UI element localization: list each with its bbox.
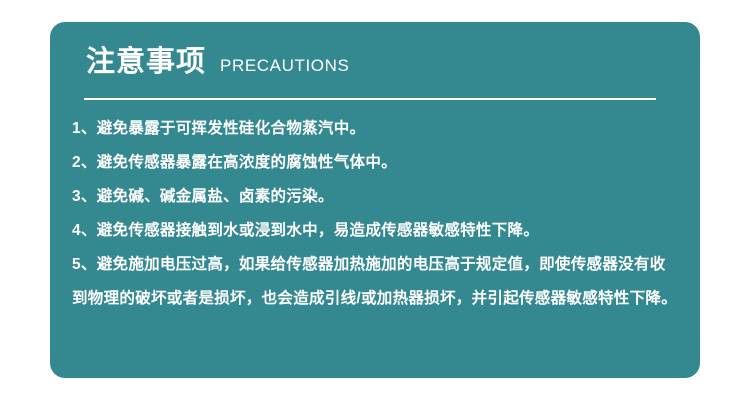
page-title: 注意事项 — [86, 48, 206, 77]
list-item: 3、避免碱、碱金属盐、卤素的污染。 — [72, 180, 686, 214]
precautions-panel: 注意事项 PRECAUTIONS 1、避免暴露于可挥发性硅化合物蒸汽中。 2、避… — [50, 22, 700, 378]
page-subtitle: PRECAUTIONS — [220, 57, 349, 74]
list-item: 1、避免暴露于可挥发性硅化合物蒸汽中。 — [72, 112, 686, 146]
header-divider — [84, 98, 656, 100]
list-item: 5、避免施加电压过高，如果给传感器加热施加的电压高于规定值，即使传感器没有收到物… — [72, 248, 686, 316]
precautions-list: 1、避免暴露于可挥发性硅化合物蒸汽中。 2、避免传感器暴露在高浓度的腐蚀性气体中… — [72, 112, 686, 316]
list-item: 4、避免传感器接触到水或浸到水中，易造成传感器敏感特性下降。 — [72, 214, 686, 248]
screenshot-canvas: 注意事项 PRECAUTIONS 1、避免暴露于可挥发性硅化合物蒸汽中。 2、避… — [0, 0, 750, 407]
list-item: 2、避免传感器暴露在高浓度的腐蚀性气体中。 — [72, 146, 686, 180]
panel-header: 注意事项 PRECAUTIONS — [86, 48, 349, 77]
